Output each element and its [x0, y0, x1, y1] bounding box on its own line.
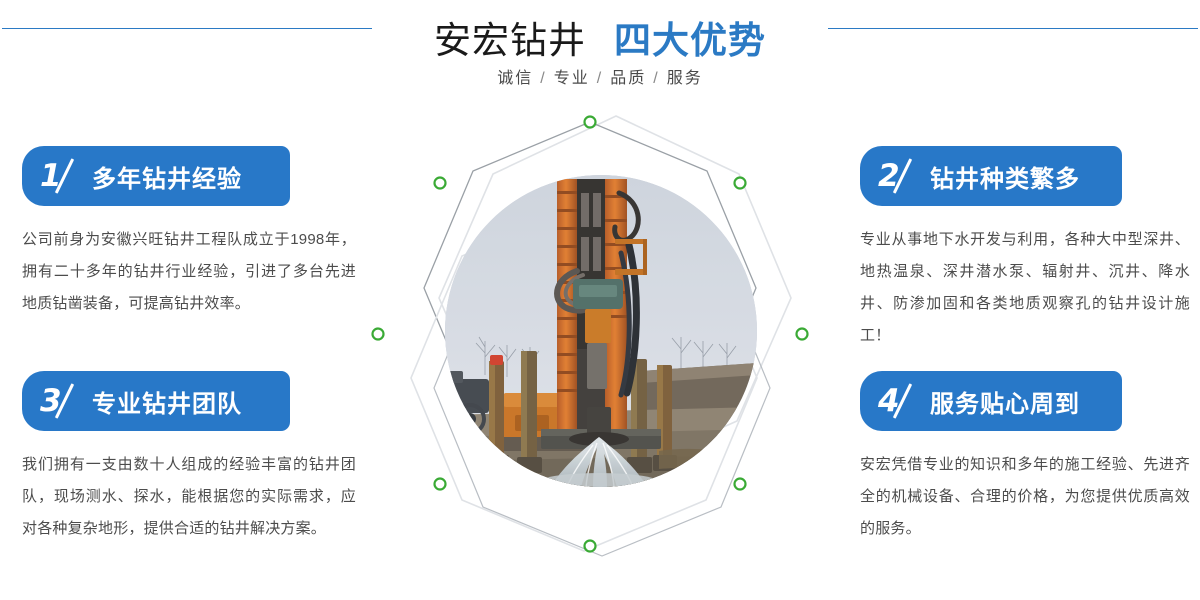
feature-card-1: 1 多年钻井经验 公司前身为安徽兴旺钻井工程队成立于1998年，拥有二十多年的钻…: [22, 146, 362, 320]
subtitle: 诚信/专业/品质/服务: [0, 64, 1200, 88]
badge-number-icon: 1: [40, 154, 84, 198]
ring-node-top-left: [435, 178, 446, 189]
title-highlight: 四大优势: [614, 20, 766, 61]
subtitle-item-1: 诚信: [497, 70, 533, 87]
badge-number-icon: 4: [878, 379, 922, 423]
feature-title-4: 服务贴心周到: [930, 384, 1080, 419]
subtitle-item-4: 服务: [667, 70, 703, 87]
feature-badge-1[interactable]: 1 多年钻井经验: [22, 146, 290, 206]
ring-node-top-right: [735, 178, 746, 189]
ring-node-bottom-left: [435, 479, 446, 490]
badge-number-icon: 2: [878, 154, 922, 198]
subtitle-item-3: 品质: [610, 70, 646, 87]
drilling-rig-illustration: [445, 175, 757, 487]
ring-node-left: [373, 329, 384, 340]
feature-badge-3[interactable]: 3 专业钻井团队: [22, 371, 290, 431]
center-graphic: [370, 110, 830, 570]
feature-card-2: 2 钻井种类繁多 专业从事地下水开发与利用，各种大中型深井、地热温泉、深井潜水泵…: [860, 146, 1200, 352]
feature-body-2: 专业从事地下水开发与利用，各种大中型深井、地热温泉、深井潜水泵、辐射井、沉井、降…: [860, 224, 1190, 352]
subtitle-separator: /: [653, 70, 659, 87]
title-company: 安宏钻井: [434, 20, 586, 61]
feature-body-3: 我们拥有一支由数十人组成的经验丰富的钻井团队，现场测水、探水，能根据您的实际需求…: [22, 449, 356, 545]
feature-body-1: 公司前身为安徽兴旺钻井工程队成立于1998年，拥有二十多年的钻井行业经验，引进了…: [22, 224, 356, 320]
ring-node-bottom-right: [735, 479, 746, 490]
ring-node-right: [797, 329, 808, 340]
subtitle-separator: /: [597, 70, 603, 87]
feature-card-4: 4 服务贴心周到 安宏凭借专业的知识和多年的施工经验、先进齐全的机械设备、合理的…: [860, 371, 1200, 545]
feature-card-3: 3 专业钻井团队 我们拥有一支由数十人组成的经验丰富的钻井团队，现场测水、探水，…: [22, 371, 362, 545]
feature-title-1: 多年钻井经验: [92, 159, 242, 194]
subtitle-item-2: 专业: [554, 70, 590, 87]
subtitle-separator: /: [540, 70, 546, 87]
badge-number-icon: 3: [40, 379, 84, 423]
page-title: 安宏钻井四大优势: [0, 10, 1200, 64]
feature-title-3: 专业钻井团队: [92, 384, 242, 419]
page-header: 安宏钻井四大优势 诚信/专业/品质/服务: [0, 0, 1200, 110]
ring-node-bottom: [585, 541, 596, 552]
feature-body-4: 安宏凭借专业的知识和多年的施工经验、先进齐全的机械设备、合理的价格，为您提供优质…: [860, 449, 1190, 545]
feature-badge-4[interactable]: 4 服务贴心周到: [860, 371, 1122, 431]
feature-title-2: 钻井种类繁多: [930, 159, 1080, 194]
feature-badge-2[interactable]: 2 钻井种类繁多: [860, 146, 1122, 206]
drilling-rig-photo: [445, 175, 757, 487]
ring-node-top: [585, 117, 596, 128]
